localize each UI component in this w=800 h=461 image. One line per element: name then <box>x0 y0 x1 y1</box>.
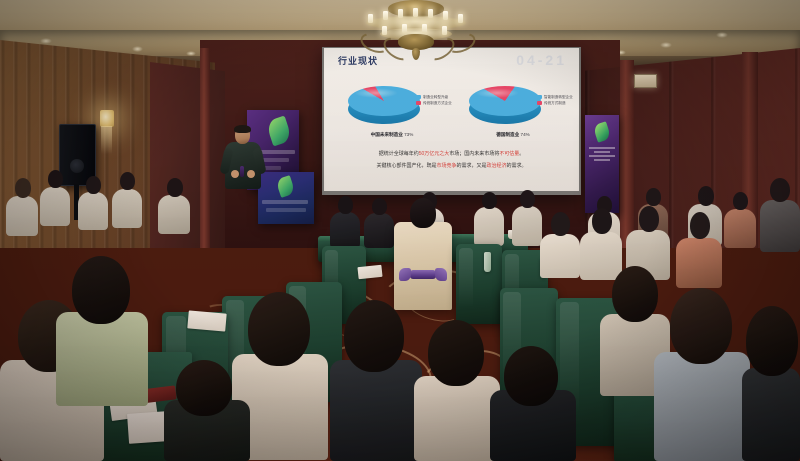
person-head <box>86 176 101 194</box>
speaker-hair <box>234 125 251 133</box>
person-head <box>612 266 658 322</box>
speaker-hand <box>231 170 239 178</box>
audience-member <box>402 198 444 238</box>
person-head <box>646 188 661 206</box>
person-torso <box>158 195 190 234</box>
person-torso <box>56 312 148 406</box>
slide-body-text: 据统计全球每年约50万亿元之大市场；国内未来市场将不可估量。 关键核心部件国产化… <box>324 148 579 172</box>
pie-chart <box>348 82 420 128</box>
legend-swatch <box>537 95 542 99</box>
text-run-highlight: 不可估量 <box>499 151 519 157</box>
person-torso <box>330 212 360 248</box>
slide-page-number: 04-21 <box>516 52 567 68</box>
legend-label: 传统制造方式企业 <box>423 100 452 106</box>
audience-member <box>512 190 542 246</box>
wall-sconce-light <box>100 110 114 127</box>
person-torso <box>364 213 394 248</box>
audience-member <box>112 172 142 228</box>
audience-member <box>158 178 190 234</box>
audience-member <box>676 212 722 288</box>
person-torso <box>540 234 580 278</box>
chart-caption: 德国制造业 74% <box>451 132 575 138</box>
leaf-logo-icon <box>275 175 295 198</box>
wall-sconce-crystals <box>101 126 112 154</box>
person-torso <box>654 352 750 461</box>
chandelier-candle <box>398 9 403 18</box>
banner-text-block <box>589 147 615 163</box>
person-head <box>338 196 353 214</box>
text-run: 市场；国内未来市场将 <box>449 151 499 157</box>
chandelier-candle <box>368 14 373 23</box>
audience-member <box>78 176 108 230</box>
person-torso <box>742 368 800 461</box>
speaker <box>222 126 264 202</box>
speaker-hand <box>247 170 255 178</box>
chandelier <box>352 0 480 68</box>
ceiling-downlight <box>40 38 52 44</box>
person-head <box>410 198 436 228</box>
text-run-highlight: 50万亿元之大 <box>419 151 450 157</box>
audience-member <box>330 300 422 461</box>
person-head <box>690 212 710 239</box>
audience-member <box>742 306 800 461</box>
person-head <box>482 192 497 209</box>
person-head <box>592 208 612 234</box>
person-torso <box>330 360 422 461</box>
person-torso <box>40 187 70 226</box>
chandelier-candle <box>382 26 387 35</box>
slide-body-line: 据统计全球每年约50万亿元之大市场；国内未来市场将不可估量。 <box>324 148 579 160</box>
audience-member <box>6 178 38 236</box>
person-head <box>372 198 387 215</box>
chart-legend: 制造业转型升级 传统制造方式企业 <box>416 94 452 106</box>
chandelier-finial <box>412 48 420 60</box>
text-run: 关键核心部件国产化，既是 <box>376 163 436 169</box>
ceiling-downlight <box>660 42 672 48</box>
wall-sign <box>634 74 657 88</box>
chair-bow <box>410 270 436 279</box>
audience-member <box>330 196 360 248</box>
banner-text-block <box>262 200 308 204</box>
legend-item: 传统制造方式企业 <box>416 100 452 106</box>
text-run: 。 <box>519 151 524 157</box>
person-head <box>551 212 570 236</box>
person-head <box>670 288 732 364</box>
audience-member <box>56 256 148 406</box>
audience-member <box>724 192 756 248</box>
handout-paper <box>357 265 382 279</box>
chandelier-candle <box>428 9 433 18</box>
handout-paper <box>187 310 226 331</box>
person-torso <box>676 238 722 288</box>
chandelier-candle <box>422 24 427 33</box>
text-run: 的需求，又是 <box>456 163 486 169</box>
audience-member <box>760 178 800 252</box>
audience-member <box>164 360 250 461</box>
audience-member <box>40 170 70 226</box>
audience-member <box>364 198 394 248</box>
chandelier-candle <box>443 11 448 20</box>
chart-caption-value: 73% <box>404 132 413 137</box>
audience-member <box>654 288 750 461</box>
person-torso <box>112 189 142 228</box>
ceiling-downlight <box>132 46 143 52</box>
legend-item: 传统方式制造 <box>537 100 573 106</box>
leaf-logo-icon <box>265 116 292 147</box>
person-head <box>770 178 790 202</box>
ceiling-downlight <box>186 51 196 56</box>
person-head <box>428 320 484 386</box>
chart-caption: 中国未来制造业 73% <box>330 132 454 138</box>
table-banner <box>258 172 314 224</box>
audience-member <box>414 320 500 461</box>
projection-screen: 行业现状 04-21 制造业转型升级 <box>324 48 579 191</box>
slide-body-line: 关键核心部件国产化，既是市场竞争的需求，又是政治经济的需求。 <box>324 160 579 172</box>
legend-swatch <box>416 95 421 99</box>
person-head <box>48 170 63 188</box>
water-bottle <box>484 252 491 272</box>
chart-caption-value: 74% <box>521 132 530 137</box>
conference-hall-scene: 行业现状 04-21 制造业转型升级 <box>0 0 800 461</box>
person-torso <box>6 196 38 236</box>
person-head <box>248 292 310 366</box>
person-head <box>504 346 558 406</box>
person-head <box>167 178 183 197</box>
text-run: 据统计全球每年约 <box>379 151 419 157</box>
chart-caption-text: 德国制造业 <box>496 132 519 137</box>
speaker-cone-icon <box>70 159 84 173</box>
text-run-highlight: 市场竞争 <box>436 163 456 169</box>
pie-highlight <box>475 88 519 98</box>
person-head <box>520 190 535 208</box>
chandelier-candle <box>458 14 463 23</box>
person-head <box>15 178 31 198</box>
person-head <box>746 306 798 376</box>
chandelier-candle <box>442 26 447 35</box>
chart-china-manufacturing: 制造业转型升级 传统制造方式企业 中国未来制造业 73% <box>328 80 456 146</box>
microphone <box>240 166 244 177</box>
chandelier-candle <box>383 11 388 20</box>
pie-highlight <box>354 88 398 98</box>
chart-legend: 智能制造转型企业 传统方式制造 <box>537 94 573 106</box>
person-torso <box>760 200 800 252</box>
person-head <box>639 206 659 232</box>
chandelier-candle <box>413 8 418 17</box>
audience-member <box>540 212 580 278</box>
person-torso <box>724 209 756 248</box>
person-torso <box>474 207 504 246</box>
ceiling-downlight <box>716 32 728 38</box>
person-head <box>344 300 404 372</box>
wall-pillar <box>200 48 210 263</box>
slide-charts-row: 制造业转型升级 传统制造方式企业 中国未来制造业 73% <box>324 80 579 146</box>
person-torso <box>512 206 542 246</box>
person-head <box>698 186 714 206</box>
person-torso <box>414 376 500 461</box>
person-head <box>733 192 748 210</box>
person-head <box>72 256 130 324</box>
banquet-chair <box>456 244 502 324</box>
banner-text-block <box>266 208 306 212</box>
chart-germany-manufacturing: 智能制造转型企业 传统方式制造 德国制造业 74% <box>449 80 577 146</box>
text-run-highlight: 政治经济 <box>487 163 507 169</box>
chair-highlight <box>459 248 473 308</box>
pie-top-face <box>348 86 420 116</box>
legend-label: 传统方式制造 <box>544 100 566 106</box>
chart-caption-text: 中国未来制造业 <box>371 132 403 137</box>
legend-swatch <box>537 101 542 105</box>
leaf-logo-icon <box>593 121 612 142</box>
text-run: 的需求。 <box>507 163 527 169</box>
person-head <box>176 360 232 416</box>
pie-chart <box>469 82 541 128</box>
person-head <box>120 172 135 190</box>
legend-swatch <box>416 101 421 105</box>
chandelier-candle <box>402 24 407 33</box>
pie-top-face <box>469 86 541 116</box>
audience-member <box>474 192 504 246</box>
person-torso <box>78 192 108 230</box>
audience-member <box>490 346 576 461</box>
